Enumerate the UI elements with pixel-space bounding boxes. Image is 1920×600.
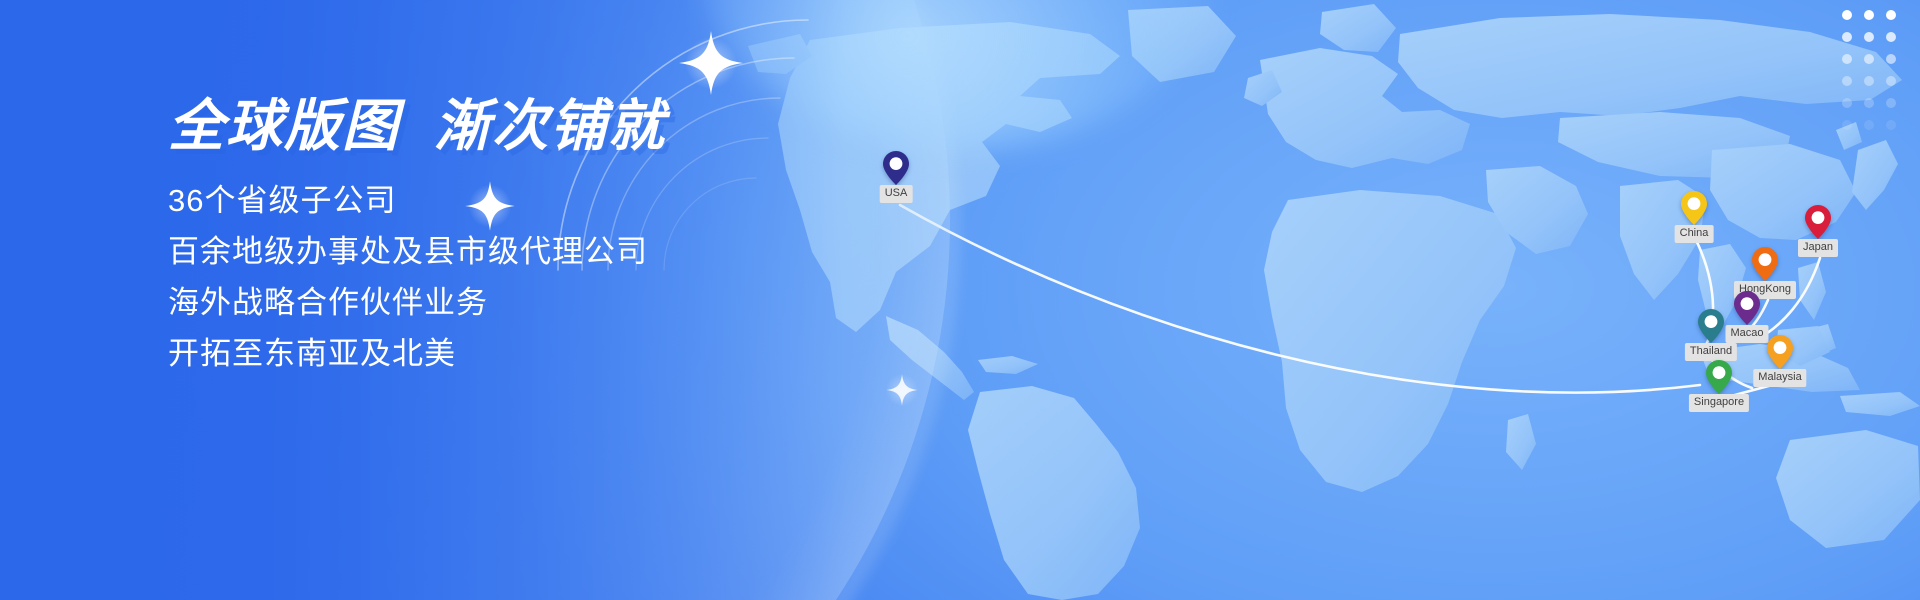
map-pin-icon: Malaysia [1767, 335, 1793, 369]
map-marker-label: Malaysia [1753, 369, 1806, 387]
map-pin-icon: China [1681, 191, 1707, 225]
subtitle-line-4: 开拓至东南亚及北美 [168, 334, 808, 375]
map-marker-label: USA [880, 185, 913, 203]
global-map-banner: 全球版图渐次铺就 36个省级子公司 百余地级办事处及县市级代理公司 海外战略合作… [0, 0, 1920, 600]
map-pin-icon: Thailand [1698, 309, 1724, 343]
map-marker-label: Thailand [1685, 343, 1737, 361]
map-marker-label: China [1675, 225, 1714, 243]
copy-block: 全球版图渐次铺就 36个省级子公司 百余地级办事处及县市级代理公司 海外战略合作… [168, 96, 808, 375]
map-marker-label: Macao [1725, 325, 1768, 343]
map-pin-icon: Macao [1734, 291, 1760, 325]
subtitle-line-3: 海外战略合作伙伴业务 [168, 283, 808, 324]
map-pin-icon: Singapore [1706, 360, 1732, 394]
subtitle-list: 36个省级子公司 百余地级办事处及县市级代理公司 海外战略合作伙伴业务 开拓至东… [168, 181, 808, 375]
subtitle-line-1: 36个省级子公司 [168, 181, 808, 222]
subtitle-line-2: 百余地级办事处及县市级代理公司 [168, 232, 808, 273]
map-pin-icon: Japan [1805, 205, 1831, 239]
map-marker-label: Japan [1798, 239, 1838, 257]
map-pin-icon: USA [883, 151, 909, 185]
map-marker-japan[interactable]: Japan [1805, 205, 1831, 239]
map-pin-icon: HongKong [1752, 247, 1778, 281]
map-marker-usa[interactable]: USA [883, 151, 909, 185]
headline-right: 渐次铺就 [434, 94, 666, 157]
map-marker-malaysia[interactable]: Malaysia [1767, 335, 1793, 369]
map-marker-macao[interactable]: Macao [1734, 291, 1760, 325]
page-title: 全球版图渐次铺就 [168, 96, 808, 155]
map-marker-hongkong[interactable]: HongKong [1752, 247, 1778, 281]
map-marker-china[interactable]: China [1681, 191, 1707, 225]
map-marker-singapore[interactable]: Singapore [1706, 360, 1732, 394]
dot-grid-icon [1842, 10, 1896, 130]
headline-left: 全球版图 [168, 94, 400, 157]
map-marker-thailand[interactable]: Thailand [1698, 309, 1724, 343]
map-marker-label: Singapore [1689, 394, 1749, 412]
